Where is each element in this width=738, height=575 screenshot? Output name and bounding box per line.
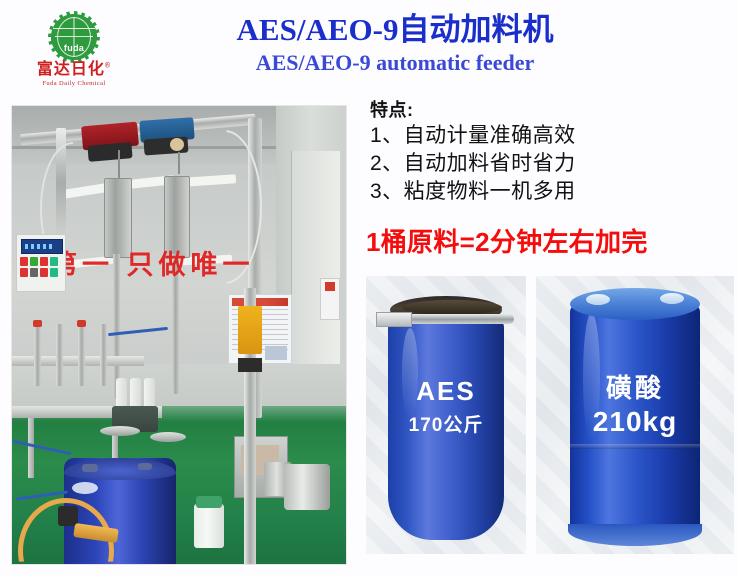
aes-drum-label: AES bbox=[384, 376, 508, 407]
sulfonic-acid-drum: 磺酸 210kg bbox=[564, 284, 706, 546]
registered-mark: ® bbox=[105, 63, 111, 70]
workshop-photo: 净第一 只做唯一 bbox=[11, 105, 347, 565]
steel-container bbox=[284, 464, 330, 510]
page-title: AES/AEO-9自动加料机 AES/AEO-9 automatic feede… bbox=[160, 12, 630, 76]
sulfonic-acid-drum-weight: 210kg bbox=[564, 406, 706, 438]
drum-bung-small bbox=[660, 293, 684, 304]
company-logo: fuda 富达日化® Fuda Daily Chemical bbox=[18, 14, 130, 96]
globe-gear-icon: fuda bbox=[51, 14, 97, 60]
aes-drum: AES 170公斤 bbox=[384, 290, 508, 540]
vertical-feeder-post bbox=[244, 288, 256, 564]
brand-name-cn-text: 富达日化 bbox=[37, 61, 105, 78]
control-panel bbox=[16, 234, 66, 292]
features-list: 特点: 1、自动计量准确高效 2、自动加料省时省力 3、粘度物料一机多用 bbox=[370, 98, 730, 206]
feature-item-3: 3、粘度物料一机多用 bbox=[370, 178, 730, 206]
title-english: AES/AEO-9 automatic feeder bbox=[160, 50, 630, 76]
drum-bung-large bbox=[586, 294, 610, 305]
logo-mark-text: fuda bbox=[51, 43, 97, 53]
brand-name-en: Fuda Daily Chemical bbox=[42, 80, 105, 87]
white-canister bbox=[194, 504, 224, 548]
aes-drum-weight: 170公斤 bbox=[384, 410, 508, 437]
slide-root: fuda 富达日化® Fuda Daily Chemical AES/AEO-9… bbox=[0, 0, 738, 575]
drum-top bbox=[570, 288, 700, 320]
headline-claim: 1桶原料=2分钟左右加完 bbox=[366, 222, 734, 259]
warning-sign bbox=[320, 278, 340, 320]
feature-item-1: 1、自动计量准确高效 bbox=[370, 122, 730, 150]
barrel-image-aes: AES 170公斤 bbox=[366, 276, 526, 554]
sulfonic-acid-drum-label: 磺酸 bbox=[564, 368, 706, 405]
feature-item-2: 2、自动加料省时省力 bbox=[370, 150, 730, 178]
title-chinese: AES/AEO-9自动加料机 bbox=[160, 12, 630, 48]
barrel-image-sulfonic-acid: 磺酸 210kg bbox=[536, 276, 734, 554]
features-heading: 特点: bbox=[370, 98, 730, 122]
brand-name-cn: 富达日化® bbox=[37, 62, 111, 79]
